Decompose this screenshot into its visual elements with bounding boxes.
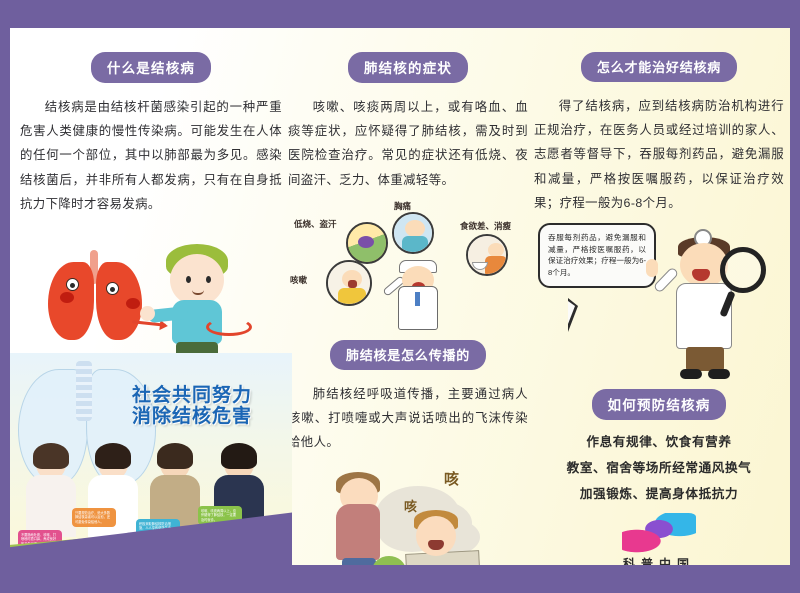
boy-eye-left	[186, 276, 191, 283]
adult-torso	[336, 504, 380, 560]
symptom-icon-cough	[326, 260, 372, 306]
person2-torso	[88, 475, 138, 537]
speech-bubble-tail	[568, 298, 578, 332]
fan-logo-icon	[622, 513, 696, 553]
poster-title-line-1: 社会共同努力	[132, 385, 252, 406]
prevention-list: 作息有规律、饮食有营养 教室、宿舍等场所经常通风换气 加强锻炼、提高身体抵抗力	[534, 430, 784, 507]
heading-symptoms: 肺结核的症状	[348, 52, 468, 83]
doctor2-pointing-finger	[646, 259, 658, 277]
circular-arrow-icon	[206, 318, 252, 336]
doctor-tie	[415, 292, 420, 306]
heading-prevention: 如何预防结核病	[592, 389, 727, 420]
cough-sound-text-1: 咳	[444, 468, 459, 489]
person1-torso	[26, 475, 76, 537]
illustration-transmission: 咳 咳	[288, 460, 528, 565]
body-transmission: 肺结核经呼吸道传播，主要通过病人咳嗽、打喷嚏或大声说话喷出的飞沫传染给他人。	[288, 382, 528, 455]
symptom-icon-poor-appetite	[466, 234, 508, 276]
doctor2-shoe-right	[708, 369, 730, 379]
illustration-symptom-circles: 低烧、盗汗 胸痛 食欲差、消瘦 咳嗽	[288, 198, 528, 330]
heading-transmission: 肺结核是怎么传播的	[330, 340, 486, 370]
prevention-line-3: 加强锻炼、提高身体抵抗力	[534, 482, 784, 508]
symptom-label-cough: 咳嗽	[290, 274, 307, 286]
lung-eye-left	[66, 278, 79, 291]
symptom-icon-fever-night-sweat	[346, 222, 388, 264]
brochure-page: 什么是结核病 结核病是由结核杆菌感染引起的一种严重危害人类健康的慢性传染病。可能…	[0, 0, 800, 593]
body-what-is-tuberculosis: 结核病是由结核杆菌感染引起的一种严重危害人类健康的慢性传染病。可能发生在人体的任…	[20, 95, 282, 216]
poster-title-line-2: 消除结核危害	[132, 406, 252, 427]
person2-hair	[95, 443, 131, 469]
person3-hair	[157, 443, 193, 469]
child-head	[416, 516, 456, 556]
column-symptoms-and-transmission: 肺结核的症状 咳嗽、咳痰两周以上，或有咯血、血痰等症状，应怀疑得了肺结核，需及时…	[288, 28, 528, 565]
prevention-line-2: 教室、宿舍等场所经常通风换气	[534, 456, 784, 482]
body-symptoms: 咳嗽、咳痰两周以上，或有咯血、血痰等症状，应怀疑得了肺结核，需及时到医院检查治疗…	[288, 95, 528, 192]
brand-logo: 科普中国 CHINA SCIENCE COMMUNICATION	[534, 513, 784, 565]
illustration-doctor-pointing	[384, 260, 450, 330]
person4-hair	[221, 443, 257, 469]
column-treatment-and-prevention: 怎么才能治好结核病 得了结核病，应到结核病防治机构进行正规治疗，在医务人员或经过…	[534, 28, 784, 565]
doctor2-shoe-left	[680, 369, 702, 379]
illustration-doctor-magnifier: 吞服每剂药品，避免漏服和减量，严格按医嘱服药，以保证治疗效果；疗程一般为6-8个…	[534, 219, 784, 389]
adult-legs	[342, 558, 376, 565]
symptom-label-fever-night-sweat: 低烧、盗汗	[294, 218, 337, 230]
body-treatment: 得了结核病，应到结核病防治机构进行正规治疗，在医务人员或经过培训的家人、志愿者等…	[534, 94, 784, 215]
poster-trachea	[76, 361, 92, 421]
lung-lesion-left	[60, 292, 74, 303]
boy-hand	[140, 306, 155, 321]
symptom-icon-chest-pain	[392, 212, 434, 254]
person1-hair	[33, 443, 69, 469]
symptom-label-poor-appetite: 食欲差、消瘦	[460, 220, 511, 232]
treatment-speech-bubble: 吞服每剂药品，避免漏服和减量，严格按医嘱服药，以保证治疗效果；疗程一般为6-8个…	[538, 223, 656, 288]
boy-head	[170, 254, 224, 306]
column-what-is-tuberculosis: 什么是结核病 结核病是由结核杆菌感染引起的一种严重危害人类健康的慢性传染病。可能…	[20, 28, 282, 366]
lung-eye-right	[106, 282, 119, 295]
prevention-line-1: 作息有规律、饮食有营养	[534, 430, 784, 456]
boy-eye-right	[206, 276, 211, 283]
poster-bubble-orange: 只要规范治疗，绝大多数肺结核患者可以治愈，还可避免传染给他人。	[72, 508, 116, 527]
campaign-poster: 社会共同努力 消除结核危害	[10, 353, 292, 565]
logo-text-cn: 科普中国	[534, 555, 784, 565]
heading-what-is-tuberculosis: 什么是结核病	[91, 52, 211, 83]
doctor2-legs	[686, 347, 724, 371]
magnifier-icon	[720, 247, 766, 293]
cough-sound-text-2: 咳	[404, 496, 417, 515]
poster-person-1	[26, 445, 76, 537]
symptom-label-chest-pain: 胸痛	[394, 200, 411, 212]
lung-lesion-right	[126, 298, 140, 309]
illustration-lungs-and-boy	[20, 226, 282, 366]
poster-title: 社会共同努力 消除结核危害	[132, 385, 252, 428]
heading-treatment: 怎么才能治好结核病	[581, 52, 737, 82]
brochure-canvas: 什么是结核病 结核病是由结核杆菌感染引起的一种严重危害人类健康的慢性传染病。可能…	[10, 28, 790, 565]
